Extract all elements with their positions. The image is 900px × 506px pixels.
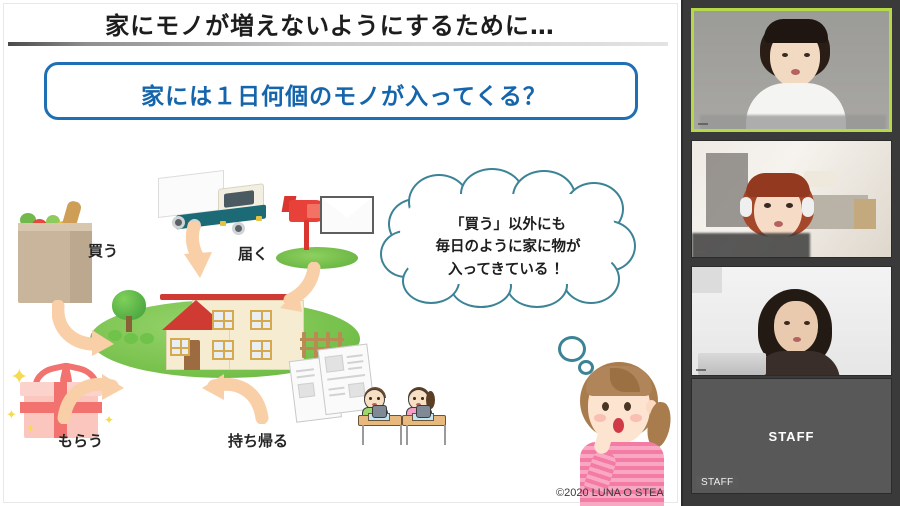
title-divider-rule	[8, 42, 668, 46]
arrow-mail-to-house	[272, 262, 322, 314]
arrow-buy-to-house	[52, 300, 118, 356]
speech-line-3: 入ってきている ！	[448, 262, 568, 278]
video-tile-1-name-label	[698, 123, 708, 125]
label-buy: 買う	[88, 240, 118, 261]
arrow-truck-to-house	[180, 222, 224, 280]
label-deliver: 届く	[238, 243, 268, 264]
video-tile-4-staff[interactable]: STAFF STAFF	[691, 378, 892, 494]
slide-title: 家にモノが増えないようにするために…	[0, 6, 660, 41]
speech-bubble-text: 「買う」以外にも 毎日のように家に物が 入ってきている ！	[378, 214, 638, 281]
question-box: 家には１日何個のモノが入ってくる？	[44, 62, 638, 120]
speech-line-2: 毎日のように家に物が	[436, 239, 581, 255]
video-tile-4-name-label: STAFF	[696, 476, 738, 489]
sparkle-icon: ✦	[6, 408, 17, 421]
sparkle-icon: ✦	[26, 424, 35, 435]
video-tile-3-name-label	[696, 369, 706, 371]
participant-video-panel: STAFF STAFF	[683, 0, 900, 506]
speech-bubble: 「買う」以外にも 毎日のように家に物が 入ってきている ！	[378, 168, 638, 308]
screen-share-meeting-view: 家にモノが増えないようにするために… 家には１日何個のモノが入ってくる？	[0, 0, 900, 506]
students-at-desks-icon	[354, 385, 450, 457]
arrow-gift-to-house	[56, 372, 126, 424]
speech-line-1: 「買う」以外にも	[450, 217, 566, 233]
envelope-icon	[320, 196, 374, 234]
arrow-bringhome-to-house	[200, 372, 270, 424]
sparkle-icon: ✦	[10, 366, 28, 388]
video-tile-2[interactable]	[691, 140, 892, 258]
grocery-bag-icon	[18, 205, 92, 303]
label-bring-home: 持ち帰る	[228, 430, 288, 451]
video-tile-1[interactable]	[691, 8, 892, 132]
video-tile-2-name-label	[696, 251, 706, 253]
bush-icon	[124, 333, 138, 344]
copyright-notice: ©2020 LUNA O STEA	[556, 487, 664, 499]
girl-character-icon	[566, 358, 676, 506]
label-receive: もらう	[58, 430, 103, 451]
question-box-text: 家には１日何個のモノが入ってくる？	[47, 77, 641, 111]
shared-slide-area: 家にモノが増えないようにするために… 家には１日何個のモノが入ってくる？	[0, 0, 683, 506]
video-tile-3[interactable]	[691, 266, 892, 376]
